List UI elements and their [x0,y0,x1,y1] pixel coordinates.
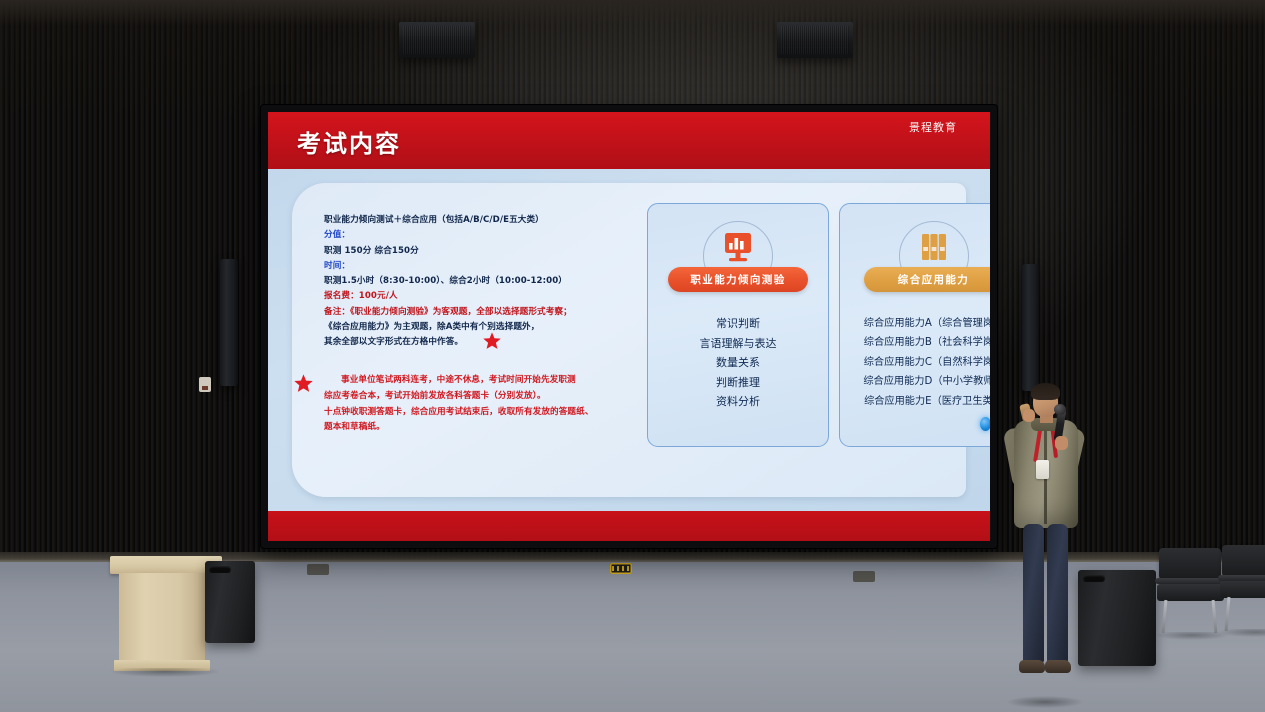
presenter-right-hand [1055,436,1068,450]
presenter-shoe-right [1045,660,1071,673]
detail-label-time: 时间： [324,259,649,274]
chair-shadow [1218,629,1265,637]
ceiling-speaker-right-icon [777,22,853,58]
list-item: 综合应用能力D（中小学教师） [840,372,990,391]
podium-shadow [110,668,220,677]
books-icon [914,231,954,270]
projection-screen[interactable]: 考试内容 职业能力倾向测试＋综合应用（包括A/B/C/D/E五大类） 分值： 职… [261,105,997,548]
column-speaker-right-icon [1022,264,1039,391]
list-item: 综合应用能力B（社会科学岗） [840,333,990,352]
brand-watermark: 景程教育 [909,119,957,135]
page-title: 考试内容 [297,124,401,159]
detail-label-remark: 备注：《职业能力倾向测验》为客观题，全部以选择题形式考察； [324,305,649,320]
detail-line: 职测1.5小时（8:30-10:00）、综合2小时（10:00-12:00） [324,274,649,289]
detail-line: 职业能力倾向测试＋综合应用（包括A/B/C/D/E五大类） [324,213,649,228]
chair-back [1222,545,1265,577]
slide: 考试内容 职业能力倾向测试＋综合应用（包括A/B/C/D/E五大类） 分值： 职… [268,112,990,541]
slide-content-card: 职业能力倾向测试＋综合应用（包括A/B/C/D/E五大类） 分值： 职测 150… [292,183,966,497]
presenter-left-hand [1023,409,1035,422]
note-line: 题本和草稿纸。 [324,420,654,436]
note-line: 十点钟收职测答题卡，综合应用考试结束后，收取所有发放的答题纸、 [324,405,654,421]
list-item: 判断推理 [648,373,828,393]
microphone-head-icon [1054,404,1066,415]
ceiling-speaker-left-icon [399,22,475,58]
panel-comprehensive-list: 综合应用能力A（综合管理岗） 综合应用能力B（社会科学岗） 综合应用能力C（自然… [840,314,990,411]
list-item: 常识判断 [648,314,828,334]
presenter-legs [1023,524,1069,672]
monitor-chart-icon [718,231,758,272]
panel-comprehensive[interactable]: 综合应用能力 综合应用能力A（综合管理岗） 综合应用能力B（社会科学岗） 综合应… [839,203,990,447]
wall-switch-plate-icon[interactable] [199,377,211,392]
chair-seat [1157,584,1224,601]
laser-pointer-dot [980,417,990,431]
panel-comprehensive-pill[interactable]: 综合应用能力 [864,267,991,292]
panel-aptitude-pill[interactable]: 职业能力倾向测验 [668,267,808,292]
chair-back [1159,548,1221,580]
presenter [1003,378,1091,712]
detail-line: 职测 150分 综合150分 [324,244,649,259]
list-item: 言语理解与表达 [648,334,828,354]
presentation-room-scene: 考试内容 职业能力倾向测试＋综合应用（包括A/B/C/D/E五大类） 分值： 职… [0,0,1265,712]
floor-subwoofer-left [205,561,255,643]
column-speaker-left-icon [220,259,238,386]
exam-red-note: 事业单位笔试两科连考，中途不休息，考试时间开始先发职测 综应考卷合本，考试开始前… [324,373,654,436]
list-item: 综合应用能力C（自然科学岗） [840,353,990,372]
note-line: 事业单位笔试两科连考，中途不休息，考试时间开始先发职测 [324,373,654,389]
detail-label-fee: 报名费：100元/人 [324,289,649,304]
wall-outlet-icon[interactable] [610,563,632,574]
presenter-leg-left [1023,524,1044,664]
list-item: 资料分析 [648,392,828,412]
note-line: 综应考卷合本，考试开始前发放各科答题卡（分别发放）。 [324,389,654,405]
id-badge [1036,460,1049,479]
podium-body [119,573,205,663]
ceiling-shadow [0,0,1265,26]
wall-access-panel-left-icon [307,564,329,575]
presenter-shadow [1007,696,1083,708]
list-item: 数量关系 [648,353,828,373]
wall-access-panel-right-icon [853,571,875,582]
presenter-leg-right [1047,524,1068,664]
detail-label-score: 分值： [324,228,649,243]
presenter-shoe-left [1019,660,1045,673]
list-item: 综合应用能力E（医疗卫生类） [840,392,990,411]
chair-seat [1220,581,1265,598]
slide-body: 职业能力倾向测试＋综合应用（包括A/B/C/D/E五大类） 分值： 职测 150… [268,169,990,511]
glasses-icon [1036,398,1056,404]
panel-aptitude-list: 常识判断 言语理解与表达 数量关系 判断推理 资料分析 [648,314,828,412]
slide-footer-bar [268,511,990,541]
panel-aptitude[interactable]: 职业能力倾向测验 常识判断 言语理解与表达 数量关系 判断推理 资料分析 [647,203,829,447]
list-item: 综合应用能力A（综合管理岗） [840,314,990,333]
